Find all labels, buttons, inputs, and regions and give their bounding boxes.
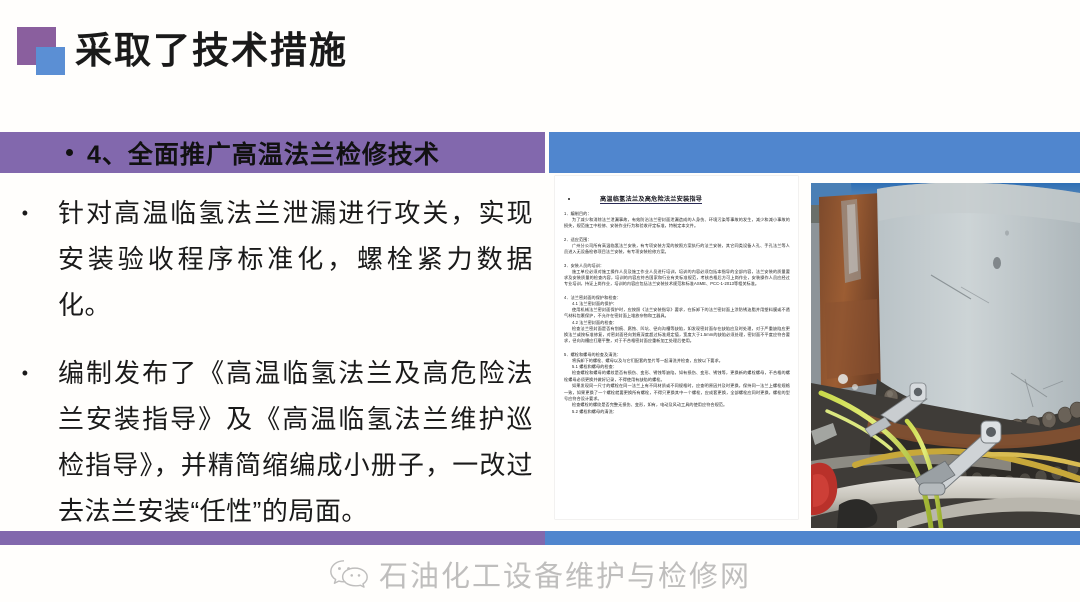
footer-banner-purple xyxy=(0,531,545,545)
logo-square-blue-icon xyxy=(36,47,65,75)
document-scan-image: 高温临氢法兰及高危险法兰安装指导 1．编制目的： 为了减少和消除法兰泄漏事故，有… xyxy=(555,176,798,519)
document-subsection-body: 检查法兰密封面是否有划痕、腐蚀、凹坑、径向沟槽等缺陷，如发现密封面存在缺陷应及时… xyxy=(564,326,790,345)
footer-watermark: 石油化工设备维护与检修网 xyxy=(0,545,1080,602)
document-title: 高温临氢法兰及高危险法兰安装指导 xyxy=(600,194,702,204)
document-section-body: 广州分公司所有高温临氢法兰安装，有专项安装方案的按照方案执行的法兰安装，其它同类… xyxy=(564,243,790,256)
headline-bullet-icon xyxy=(66,149,73,156)
media-column: 高温临氢法兰及高危险法兰安装指导 1．编制目的： 为了减少和消除法兰泄漏事故，有… xyxy=(549,176,1080,528)
paragraph-text: 针对高温临氢法兰泄漏进行攻关，实现安装验收程序标准化，螺栓紧力数据化。 xyxy=(32,190,533,328)
headline-text: 4、全面推广高温法兰检修技术 xyxy=(87,135,440,171)
document-title-bullet-icon xyxy=(568,198,570,200)
bullet-icon: • xyxy=(0,190,32,328)
document-section: 3．安装人员的培训： 施工单位必须对施工操作人员及施工作业人员进行培训，培训的内… xyxy=(564,263,790,288)
document-section: 4．法兰密封面的保护和检查： 4.1 法兰密封面的保护： 使用机械法兰密封面保护… xyxy=(564,295,790,345)
paragraph-text: 编制发布了《高温临氢法兰及高危险法兰安装指导》及《高温临氢法兰维护巡检指导》，并… xyxy=(32,350,533,534)
document-subsection-body: 使用机械法兰密封面保护时，应按照《法兰安装指导》要求，在拆卸下的法兰密封面上涂防… xyxy=(564,307,790,320)
slide-header: 采取了技术措施 xyxy=(0,0,1080,120)
document-section: 2．适应范围： 广州分公司所有高温临氢法兰安装，有专项安装方案的按照方案执行的法… xyxy=(564,237,790,256)
page-title: 采取了技术措施 xyxy=(75,26,348,76)
body-text-column: • 针对高温临氢法兰泄漏进行攻关，实现安装验收程序标准化，螺栓紧力数据化。 • … xyxy=(0,182,545,527)
document-section-body: 施工单位必须对施工操作人员及施工作业人员进行培训，培训的内容必须包括本指导的全部… xyxy=(564,269,790,288)
document-subsection-body: 检查螺栓和螺母的螺纹是否有损伤、变形、锈蚀等缺陷，如有损伤、变形、锈蚀等，更换新… xyxy=(564,370,790,383)
document-section-body: 为了减少和消除法兰泄漏事故，有效防治法兰密封面泄漏造成的人身伤、环境污染等事故的… xyxy=(564,217,790,230)
document-extra-line: 如果发现同一尺寸的螺栓在同一法兰上有不同材质或不同规格时，应查明原因并及时更换，… xyxy=(564,383,790,402)
footer-banner-blue xyxy=(545,531,1080,545)
bullet-paragraph-2: • 编制发布了《高温临氢法兰及高危险法兰安装指导》及《高温临氢法兰维护巡检指导》… xyxy=(0,350,533,534)
footer-watermark-text: 石油化工设备维护与检修网 xyxy=(379,553,751,595)
document-section: 5．螺栓和螺母的检查及清洗： 将拆卸下的螺栓、螺母以及与它们配套的垫片等一起清洗… xyxy=(564,352,790,415)
wechat-icon xyxy=(329,558,369,590)
flange-bolt-tightening-photo xyxy=(811,183,1080,528)
document-section: 1．编制目的： 为了减少和消除法兰泄漏事故，有效防治法兰密封面泄漏造成的人身伤、… xyxy=(564,211,790,230)
bullet-paragraph-1: • 针对高温临氢法兰泄漏进行攻关，实现安装验收程序标准化，螺栓紧力数据化。 xyxy=(0,190,533,328)
document-extra-line: 5.2 螺栓和螺母的清洗： xyxy=(564,409,790,415)
slide-canvas: 采取了技术措施 4、全面推广高温法兰检修技术 • 针对高温临氢法兰泄漏进行攻关，… xyxy=(0,0,1080,602)
headline-banner-blue xyxy=(549,132,1080,173)
headline-row: 4、全面推广高温法兰检修技术 xyxy=(0,132,545,173)
bullet-icon: • xyxy=(0,350,32,534)
document-title-row: 高温临氢法兰及高危险法兰安装指导 xyxy=(564,186,790,204)
